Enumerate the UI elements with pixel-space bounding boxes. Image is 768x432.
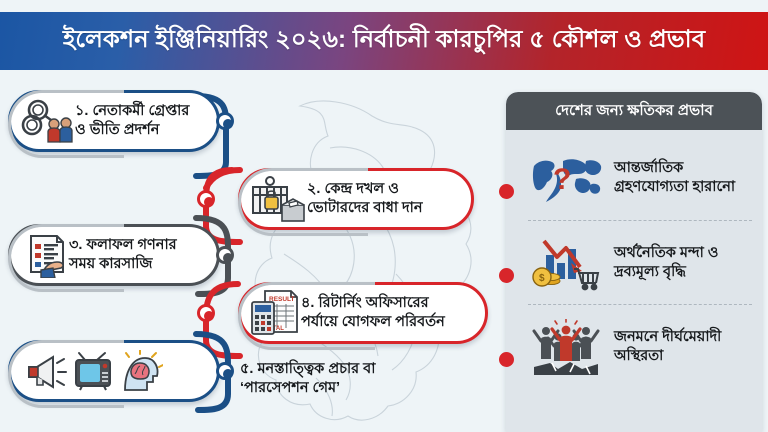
- impact-item-1-text: আন্তর্জাতিক গ্রহণযোগ্যতা হারানো: [614, 159, 735, 197]
- flow-step-2-icons: [249, 175, 307, 223]
- flow-step-1-line1: ১. নেতাকর্মী গ্রেপ্তার: [75, 102, 189, 121]
- infographic-header: ইলেকশন ইঞ্জিনিয়ারিং ২০২৬: নির্বাচনী কার…: [0, 12, 768, 70]
- flow-node-2[interactable]: [197, 190, 215, 208]
- falling-chart-cart-coins-icon: $: [530, 235, 602, 291]
- crowd-cracked-ground-icon: [530, 319, 602, 375]
- two-people-icon: [48, 118, 72, 142]
- impact-list: ? আন্তর্জাতিক গ্রহণযোগ্যতা হারানো: [506, 130, 762, 388]
- flow-node-3[interactable]: [216, 246, 234, 264]
- megaphone-icon: [23, 351, 67, 391]
- flow-step-2-line1: ২. কেন্দ্র দখল ও: [307, 180, 423, 199]
- impact-item-2-icon: $: [528, 235, 604, 291]
- flow-step-1[interactable]: ১. নেতাকর্মী গ্রেপ্তার ও ভীতি প্রদর্শন: [8, 90, 220, 152]
- flow-step-5-line2: ‘পারসেপশন গেম’: [240, 379, 375, 398]
- impact-panel-title: দেশের জন্য ক্ষতিকর প্রভাব: [555, 99, 713, 124]
- television-icon: [73, 351, 113, 391]
- svg-text:$: $: [539, 273, 545, 284]
- flow-node-5[interactable]: [216, 362, 234, 380]
- flow-step-2-text: ২. কেন্দ্র দখল ও ভোটারদের বাধা দান: [307, 180, 437, 217]
- impact-item-1-line1: আন্তর্জাতিক: [614, 159, 735, 178]
- brain-head-icon: [119, 350, 163, 392]
- impact-item-1[interactable]: ? আন্তর্জাতিক গ্রহণযোগ্যতা হারানো: [528, 136, 752, 220]
- impact-bullet-3: [499, 352, 514, 367]
- tally-sheet-hand-icon: [23, 232, 69, 278]
- flow-step-5-icons: [23, 350, 163, 392]
- impact-bullet-1: [499, 184, 514, 199]
- impact-item-1-icon: ?: [528, 152, 604, 204]
- flow-step-5[interactable]: [8, 340, 220, 402]
- flow-step-3[interactable]: ৩. ফলাফল গণনার সময় কারসাজি: [8, 224, 220, 286]
- svg-text:?: ?: [553, 163, 571, 196]
- flow-node-4[interactable]: [197, 304, 215, 322]
- flow-step-5-line1: ৫. মনস্তাত্ত্বিক প্রচার বা: [240, 360, 375, 379]
- flow-step-5-text: ৫. মনস্তাত্ত্বিক প্রচার বা ‘পারসেপশন গেম…: [240, 360, 375, 398]
- flow-step-4-icons: RESULT TTAL: [249, 288, 301, 338]
- impact-item-1-line2: গ্রহণযোগ্যতা হারানো: [614, 178, 735, 197]
- impact-item-3-text: জনমনে দীর্ঘমেয়াদী অস্থিরতা: [614, 328, 721, 366]
- page-title: ইলেকশন ইঞ্জিনিয়ারিং ২০২৬: নির্বাচনী কার…: [63, 21, 705, 61]
- handcuffs-icon: [21, 98, 75, 144]
- impact-item-3-icon: [528, 319, 604, 375]
- flow-step-1-icons: [21, 98, 75, 144]
- impact-bullet-2: [499, 268, 514, 283]
- impact-item-2-text: অর্থনৈতিক মন্দা ও দ্রব্যমূল্য বৃদ্ধি: [614, 244, 719, 282]
- flow-step-1-line2: ও ভীতি প্রদর্শন: [75, 121, 189, 140]
- ballot-box-icon: [282, 199, 304, 221]
- flow-step-3-line2: সময় কারসাজি: [69, 255, 177, 274]
- flow-step-3-icons: [23, 232, 69, 278]
- flow-step-4-text: ৪. রিটার্নিং অফিসারের পর্যায়ে যোগফল পরি…: [301, 294, 459, 331]
- flow-step-3-text: ৩. ফলাফল গণনার সময় কারসাজি: [69, 236, 191, 273]
- impact-item-3[interactable]: জনমনে দীর্ঘমেয়াদী অস্থিরতা: [528, 304, 752, 388]
- flow-step-3-line1: ৩. ফলাফল গণনার: [69, 236, 177, 255]
- result-sheet-calculator-icon: RESULT TTAL: [249, 288, 301, 338]
- flow-node-1[interactable]: [216, 112, 234, 130]
- flow-step-4-line2: পর্যায়ে যোগফল পরিবর্তন: [301, 313, 445, 332]
- flow-step-4-line1: ৪. রিটার্নিং অফিসারের: [301, 294, 445, 313]
- impact-panel: দেশের জন্য ক্ষতিকর প্রভাব ? আন্: [506, 92, 762, 432]
- impact-item-2[interactable]: $ অর্থনৈতিক মন্দা ও দ্রব্যমূল্য বৃদ্ধি: [528, 220, 752, 304]
- coins: $: [533, 268, 560, 286]
- impact-item-2-line1: অর্থনৈতিক মন্দা ও: [614, 244, 719, 263]
- flow-diagram: ১. নেতাকর্মী গ্রেপ্তার ও ভীতি প্রদর্শন: [0, 78, 500, 432]
- impact-item-3-line2: অস্থিরতা: [614, 347, 721, 366]
- flow-step-4[interactable]: RESULT TTAL ৪. রিটার্নিং অফিসারের পর্যায…: [238, 282, 488, 344]
- flow-step-2[interactable]: ২. কেন্দ্র দখল ও ভোটারদের বাধা দান: [238, 168, 474, 230]
- impact-item-2-line2: দ্রব্যমূল্য বৃদ্ধি: [614, 263, 719, 282]
- jail-lock-icon: [249, 175, 307, 223]
- world-map-question-icon: ?: [530, 152, 602, 204]
- impact-panel-header: দেশের জন্য ক্ষতিকর প্রভাব: [506, 92, 762, 130]
- impact-item-3-line1: জনমনে দীর্ঘমেয়াদী: [614, 328, 721, 347]
- flow-step-2-line2: ভোটারদের বাধা দান: [307, 199, 423, 218]
- flow-step-1-text: ১. নেতাকর্মী গ্রেপ্তার ও ভীতি প্রদর্শন: [75, 102, 203, 139]
